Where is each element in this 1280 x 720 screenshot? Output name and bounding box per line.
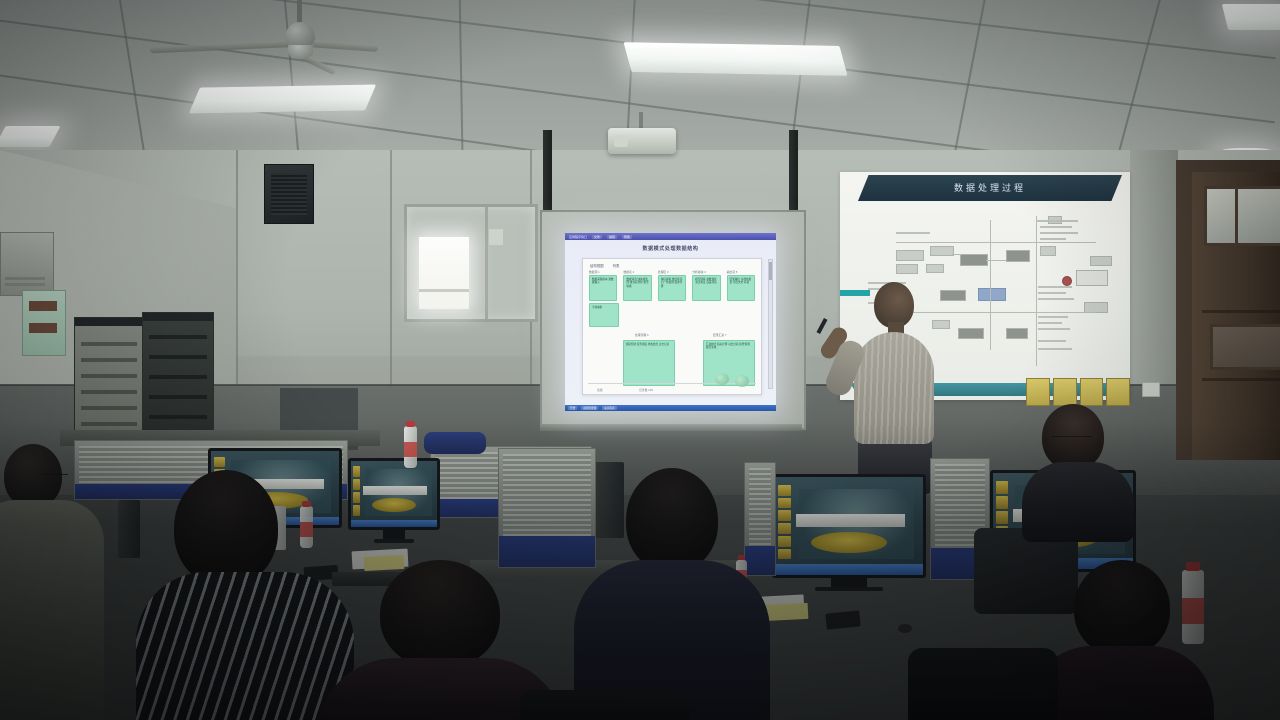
slide-tab-structure: 结构视图 — [590, 263, 604, 268]
slide-col-6: 处理流程 6 — [635, 333, 677, 337]
monitor-center[interactable] — [772, 474, 926, 578]
pc-tower — [118, 500, 140, 558]
mobile-phone-on-desk — [825, 610, 860, 629]
student-right-glasses — [1028, 404, 1120, 524]
glasses — [1052, 436, 1092, 441]
slide-col-5: 输出项 5 — [727, 270, 755, 274]
student-torso — [136, 572, 354, 720]
slide-window-titlebar: 应用程序窗口 文件 编辑 帮助 — [565, 233, 776, 240]
slide-col-1: 数据源 1 — [589, 270, 617, 274]
classroom-scene: 应用程序窗口 文件 编辑 帮助 数据模式处理数据结构 结构视图 列表 数据源 1… — [0, 0, 1280, 720]
slide-logo-leaf-icon — [735, 375, 749, 387]
server-rack-right — [142, 312, 214, 441]
slide-card: 数据采集模块 源数据输入 — [589, 275, 617, 301]
certificate-item — [1106, 378, 1130, 406]
taskbar-start-button: 开始 — [568, 406, 577, 410]
chair-back — [908, 648, 1058, 720]
screen-taskbar — [775, 564, 923, 575]
wall-certificates — [1026, 378, 1130, 406]
student-head — [1074, 560, 1170, 656]
slide-window-title: 应用程序窗口 — [569, 235, 587, 239]
student-head — [174, 470, 278, 586]
computer-mouse[interactable] — [898, 624, 912, 633]
student-torso — [0, 500, 104, 720]
projected-slide: 应用程序窗口 文件 编辑 帮助 数据模式处理数据结构 结构视图 列表 数据源 1… — [565, 233, 776, 411]
student-head — [380, 560, 500, 668]
slide-menu-edit: 编辑 — [607, 235, 617, 239]
slide-scrollbar[interactable] — [768, 259, 773, 389]
door-transom-window — [1204, 186, 1280, 246]
slide-card: 特征提取 维度筛选 归一化处理 权重计算 — [658, 275, 686, 301]
certificate-item — [1026, 378, 1050, 406]
wall-speaker — [264, 164, 314, 224]
projector-lens — [614, 135, 628, 147]
ceiling-light-fixture — [189, 84, 376, 113]
taskbar-item-explorer: 资源管理器 — [581, 406, 598, 410]
exterior-window-glow — [419, 237, 469, 309]
slide-content-sheet: 结构视图 列表 数据源 1 数据表 2 处理层 3 分析模块 4 输出项 5 数… — [582, 258, 762, 395]
slide-card-row-1b: 字段映射 — [583, 302, 761, 328]
slide-col-7: 结果汇总 7 — [713, 333, 755, 337]
ceiling-light-fixture — [1222, 4, 1280, 30]
slide-card: 流程控制 任务调度 状态监控 日志记录 — [623, 340, 675, 386]
slide-card: 模型训练 参数调优 交叉验证 误差评估 — [692, 275, 720, 301]
slide-col-3: 处理层 3 — [658, 270, 686, 274]
whiteboard-tray — [540, 424, 802, 431]
slide-col-2: 数据表 2 — [623, 270, 651, 274]
door-panel-window — [1210, 324, 1280, 370]
student-head — [626, 468, 718, 572]
classroom-door[interactable] — [1192, 172, 1280, 460]
network-rack-left — [74, 317, 144, 441]
window-fixture — [489, 229, 503, 245]
chair-back — [520, 690, 690, 720]
slide-tabs: 结构视图 列表 — [583, 259, 761, 270]
certificate-item — [1053, 378, 1077, 406]
glasses — [42, 474, 68, 479]
chair-back — [424, 432, 486, 454]
presenter-torso — [854, 332, 934, 444]
slide-col-4: 分析模块 4 — [692, 270, 720, 274]
ceiling-light-fixture — [623, 42, 847, 76]
slide-menu-help: 帮助 — [622, 235, 632, 239]
speaker-grille — [271, 173, 307, 215]
monitor-screen — [775, 477, 923, 575]
slide-column-headers-2: 处理流程 6 结果汇总 7 — [583, 328, 761, 337]
wall-notice-board — [22, 290, 66, 356]
slide-card-row-1: 数据采集模块 源数据输入 数据清洗 缺失值处理 格式标准化 类型转换 特征提取 … — [583, 274, 761, 302]
student-center-front — [578, 468, 768, 720]
slide-status-count: 记录数 128 — [639, 388, 653, 392]
slide-column-headers: 数据源 1 数据表 2 处理层 3 分析模块 4 输出项 5 — [583, 270, 761, 274]
slide-card: 字段映射 — [589, 303, 619, 327]
slide-page-title: 数据模式处理数据结构 — [565, 240, 776, 254]
slide-menu-file: 文件 — [592, 235, 602, 239]
wall-outlet — [1142, 382, 1160, 397]
interior-window — [404, 204, 538, 322]
slide-card: 结果输出 可视化报表 导出文件 存档 — [727, 275, 755, 301]
ceiling-projector — [608, 128, 676, 154]
game-icon-column — [778, 485, 791, 560]
taskbar-item-presentation: 演示程序 — [602, 406, 616, 410]
wall-electrical-panel — [0, 232, 54, 296]
slide-logo-leaf-icon — [715, 373, 729, 385]
slide-card: 数据清洗 缺失值处理 格式标准化 类型转换 — [623, 275, 651, 301]
slide-status-ready: 就绪 — [597, 388, 603, 392]
water-bottle-center — [404, 426, 417, 468]
presenter — [848, 282, 940, 497]
slide-divider — [588, 383, 756, 384]
slide-tab-list: 列表 — [613, 263, 620, 268]
poster-title: 数据处理过程 — [858, 175, 1122, 201]
fan-cap — [288, 45, 313, 59]
wall-corner-seam — [390, 150, 392, 410]
slide-taskbar: 开始 资源管理器 演示程序 — [565, 405, 776, 411]
student-front-left — [0, 444, 110, 720]
student-torso — [1022, 462, 1134, 542]
certificate-item — [1080, 378, 1104, 406]
